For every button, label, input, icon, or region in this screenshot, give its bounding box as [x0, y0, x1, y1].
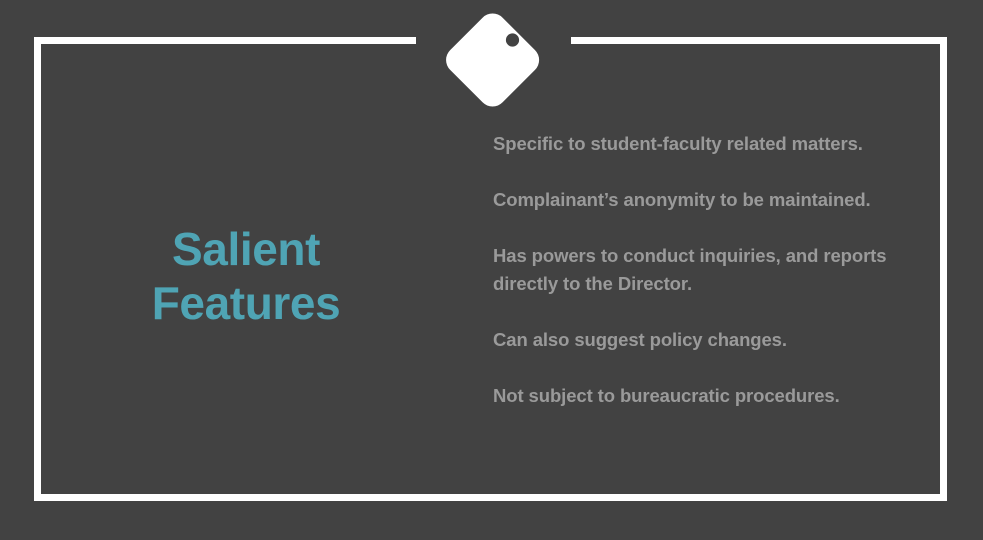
slide-title-text: Salient Features: [60, 222, 432, 330]
list-item: Complainant’s anonymity to be maintained…: [493, 186, 923, 214]
page-title: Salient Features: [60, 222, 432, 330]
slide-title-line-1: Salient: [172, 223, 320, 275]
salient-features-list: Specific to student-faculty related matt…: [493, 130, 923, 410]
slide-title-line-2: Features: [152, 277, 341, 329]
list-item: Not subject to bureaucratic procedures.: [493, 382, 923, 410]
presentation-slide: Salient Features Specific to student-fac…: [0, 0, 983, 540]
list-item: Specific to student-faculty related matt…: [493, 130, 923, 158]
list-item: Has powers to conduct inquiries, and rep…: [493, 242, 923, 298]
list-item: Can also suggest policy changes.: [493, 326, 923, 354]
